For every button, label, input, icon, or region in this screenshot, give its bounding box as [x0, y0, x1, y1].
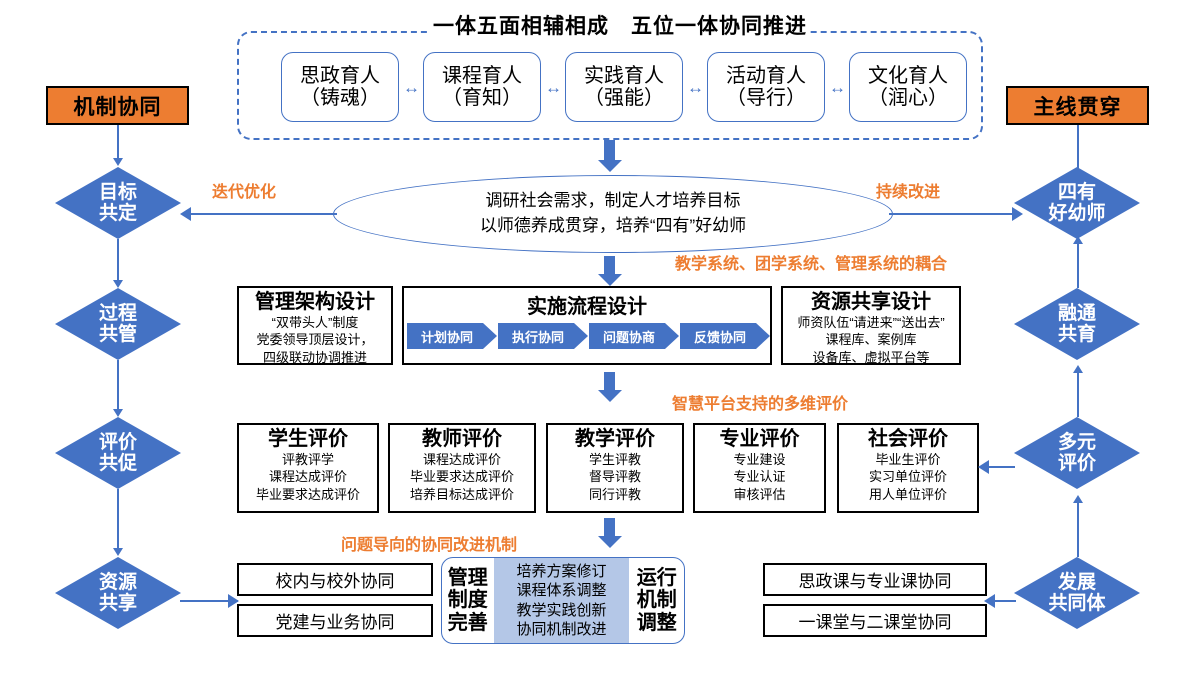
caption-platform: 智慧平台支持的多维评价: [672, 390, 848, 414]
diamond-label: 四有 好幼师: [1048, 182, 1105, 225]
pillar-wenhua[interactable]: 文化育人 （润心）: [849, 52, 967, 122]
diamond-line2: 评价: [1058, 453, 1096, 474]
goal-to-design-arrowhead: [598, 274, 622, 286]
diamond-line1: 过程: [99, 303, 137, 324]
left-arrow-1: [113, 158, 123, 166]
card-title: 专业评价: [720, 428, 800, 451]
action-line: 协同机制改进: [517, 621, 607, 638]
caption-coupling: 教学系统、团学系统、管理系统的耦合: [675, 250, 947, 274]
pillar-line2: （育知）: [442, 87, 522, 109]
iterate-line: [190, 213, 337, 215]
diamond-integration-coeducate[interactable]: 融通 共育: [1014, 288, 1140, 360]
goal-ellipse: 调研社会需求，制定人才培养目标 以师德养成贯穿，培养“四有”好幼师: [333, 175, 893, 253]
diagram-canvas: 一体五面相辅相成 五位一体协同推进 思政育人 （铸魂） ↔ 课程育人 （育知） …: [0, 0, 1202, 676]
card-body-line: 评教评学: [256, 451, 360, 468]
diamond-line2: 共育: [1058, 324, 1096, 345]
right-arrow-2: [1073, 365, 1083, 373]
process-step-problem[interactable]: 问题协商: [589, 323, 679, 349]
pillar-link-icon-1: ↔: [400, 78, 423, 98]
card-body: 师资队伍“请进来”“送出去” 课程库、案例库 设备库、虚拟平台等: [797, 314, 944, 366]
bottom-right-box-class1-class2[interactable]: 一课堂与二课堂协同: [763, 604, 987, 637]
card-teacher-evaluation[interactable]: 教师评价 课程达成评价 毕业要求达成评价 培养目标达成评价: [388, 423, 536, 513]
right-spine-seg-3: [1077, 372, 1079, 417]
left-spine-seg-2: [117, 239, 119, 283]
card-resource-sharing[interactable]: 资源共享设计 师资队伍“请进来”“送出去” 课程库、案例库 设备库、虚拟平台等: [781, 286, 961, 365]
pillar-line1: 课程育人: [442, 65, 522, 87]
label-line: 完善: [448, 612, 488, 634]
improve-arrowhead: [1012, 207, 1023, 221]
card-body-line: 课程库、案例库: [797, 331, 944, 348]
diamond-line2: 共享: [99, 593, 137, 614]
card-body-line: 专业建设: [733, 451, 785, 468]
pillar-label: 实践育人 （强能）: [584, 65, 664, 109]
goal-line1: 调研社会需求，制定人才培养目标: [485, 191, 740, 210]
diamond-line2: 共促: [99, 453, 137, 474]
bottom-center-right-label: 运行 机制 调整: [629, 558, 684, 643]
diamond-line1: 四有: [1058, 182, 1096, 203]
pillar-label: 课程育人 （育知）: [442, 65, 522, 109]
right-spine-seg-1: [1077, 125, 1079, 169]
process-step-feedback[interactable]: 反馈协同: [680, 323, 770, 349]
card-major-evaluation[interactable]: 专业评价 专业建设 专业认证 审核评估: [693, 423, 826, 513]
card-management-architecture[interactable]: 管理架构设计 “双带头人”制度 党委领导顶层设计， 四级联动协调推进: [237, 286, 393, 365]
pillar-huodong[interactable]: 活动育人 （导行）: [707, 52, 825, 122]
diamond-line2: 共定: [99, 203, 137, 224]
social-eval-arrowhead: [978, 460, 989, 474]
diamond-line2: 共同体: [1048, 593, 1105, 614]
bottomright-to-community-arrowhead: [984, 594, 995, 608]
action-line: 课程体系调整: [517, 582, 607, 599]
goal-to-design-stem: [604, 256, 615, 276]
card-body-line: 审核评估: [733, 486, 785, 503]
card-title: 管理架构设计: [255, 291, 375, 314]
right-spine-seg-2: [1077, 243, 1079, 288]
diamond-goal-codetermine[interactable]: 目标 共定: [55, 167, 181, 239]
pillar-line1: 思政育人: [300, 65, 380, 87]
pillars-to-goal-arrowhead: [598, 160, 622, 172]
card-body-line: 培养目标达成评价: [410, 486, 514, 503]
top-section-title: 一体五面相辅相成 五位一体协同推进: [430, 14, 810, 40]
diamond-label: 发展 共同体: [1048, 572, 1105, 615]
pillar-line1: 文化育人: [868, 65, 948, 87]
bottom-left-box-party-business[interactable]: 党建与业务协同: [237, 604, 433, 637]
left-arrow-2: [113, 280, 123, 288]
improve-line: [889, 213, 1019, 215]
card-title: 资源共享设计: [811, 291, 931, 314]
diamond-label: 评价 共促: [99, 432, 137, 475]
pillar-line2: （铸魂）: [300, 87, 380, 109]
pillar-label: 文化育人 （润心）: [868, 65, 948, 109]
pillar-line2: （强能）: [584, 87, 664, 109]
caption-iterate: 迭代优化: [212, 178, 276, 202]
bottom-center-left-label: 管理 制度 完善: [442, 558, 494, 643]
diamond-line1: 发展: [1058, 572, 1096, 593]
card-body-line: 用人单位评价: [869, 486, 947, 503]
right-arrow-3: [1073, 495, 1083, 503]
diamond-four-good-teacher[interactable]: 四有 好幼师: [1014, 167, 1140, 239]
card-title: 教学评价: [575, 428, 655, 451]
pillar-line1: 活动育人: [726, 65, 806, 87]
left-spine-seg-3: [117, 360, 119, 412]
diamond-label: 多元 评价: [1058, 432, 1096, 475]
diamond-line2: 共管: [99, 324, 137, 345]
pillar-label: 活动育人 （导行）: [726, 65, 806, 109]
card-title: 实施流程设计: [404, 290, 770, 319]
pillar-line2: （润心）: [868, 87, 948, 109]
diamond-label: 融通 共育: [1058, 303, 1096, 346]
action-line: 培养方案修订: [517, 563, 607, 580]
diamond-label: 过程 共管: [99, 303, 137, 346]
pillar-link-icon-3: ↔: [684, 78, 707, 98]
card-body: 学生评教 督导评教 同行评教: [589, 451, 641, 503]
eval-to-bottom-stem: [604, 518, 615, 538]
card-body-line: 设备库、虚拟平台等: [797, 349, 944, 366]
card-social-evaluation[interactable]: 社会评价 毕业生评价 实习单位评价 用人单位评价: [837, 423, 979, 513]
pillar-link-icon-4: ↔: [826, 78, 849, 98]
card-body-line: 毕业要求达成评价: [410, 468, 514, 485]
left-arrow-4: [113, 548, 123, 556]
diamond-process-comanage[interactable]: 过程 共管: [55, 288, 181, 360]
goal-ellipse-text: 调研社会需求，制定人才培养目标 以师德养成贯穿，培养“四有”好幼师: [480, 189, 746, 238]
bottom-center-left-label-text: 管理 制度 完善: [448, 567, 488, 634]
goal-line2: 以师德养成贯穿，培养“四有”好幼师: [480, 216, 746, 235]
card-body-line: 课程达成评价: [410, 451, 514, 468]
card-body: 课程达成评价 毕业要求达成评价 培养目标达成评价: [410, 451, 514, 503]
card-body: 评教评学 课程达成评价 毕业要求达成评价: [256, 451, 360, 503]
bottom-center-actions: 培养方案修订 课程体系调整 教学实践创新 协同机制改进: [494, 558, 630, 643]
diamond-line1: 目标: [99, 182, 137, 203]
diamond-line1: 资源: [99, 572, 137, 593]
diamond-evaluation-copromote[interactable]: 评价 共促: [55, 417, 181, 489]
label-line: 管理: [448, 567, 488, 589]
process-step-execute[interactable]: 执行协同: [498, 323, 588, 349]
diamond-line1: 多元: [1058, 432, 1096, 453]
banner-left-mechanism: 机制协同: [46, 86, 189, 125]
pillar-line2: （导行）: [726, 87, 806, 109]
bottom-right-box-ideology-major[interactable]: 思政课与专业课协同: [763, 563, 987, 596]
pillar-link-icon-2: ↔: [542, 78, 565, 98]
card-title: 教师评价: [422, 428, 502, 451]
card-body-line: 实习单位评价: [869, 468, 947, 485]
card-body-line: 毕业要求达成评价: [256, 486, 360, 503]
card-body-line: 四级联动协调推进: [256, 349, 373, 366]
card-body-line: 同行评教: [589, 486, 641, 503]
card-body: “双带头人”制度 党委领导顶层设计， 四级联动协调推进: [256, 314, 373, 366]
card-body-line: 专业认证: [733, 468, 785, 485]
diamond-line1: 评价: [99, 432, 137, 453]
banner-right-mainline: 主线贯穿: [1006, 86, 1149, 125]
card-student-evaluation[interactable]: 学生评价 评教评学 课程达成评价 毕业要求达成评价: [237, 423, 379, 513]
card-title: 学生评价: [268, 428, 348, 451]
action-line: 教学实践创新: [517, 602, 607, 619]
pillars-to-goal-stem: [604, 140, 615, 162]
card-body-line: 学生评教: [589, 451, 641, 468]
caption-problem-driven: 问题导向的协同改进机制: [341, 531, 517, 555]
card-body: 毕业生评价 实习单位评价 用人单位评价: [869, 451, 947, 503]
label-line: 制度: [448, 589, 488, 611]
label-line: 运行: [637, 567, 677, 589]
design-to-eval-arrowhead: [598, 390, 622, 402]
diamond-resource-share[interactable]: 资源 共享: [55, 557, 181, 629]
label-line: 机制: [637, 589, 677, 611]
left-spine-seg-1: [117, 125, 119, 161]
pillar-label: 思政育人 （铸魂）: [300, 65, 380, 109]
card-body-line: 毕业生评价: [869, 451, 947, 468]
bottom-center-actions-text: 培养方案修订 课程体系调整 教学实践创新 协同机制改进: [517, 562, 607, 640]
iterate-arrowhead: [180, 207, 191, 221]
card-body-line: 督导评教: [589, 468, 641, 485]
card-body-line: 课程达成评价: [256, 468, 360, 485]
card-body-line: “双带头人”制度: [256, 314, 373, 331]
card-body-line: 师资队伍“请进来”“送出去”: [797, 314, 944, 331]
bottom-center-right-label-text: 运行 机制 调整: [637, 567, 677, 634]
right-arrow-1: [1073, 236, 1083, 244]
right-spine-seg-4: [1077, 502, 1079, 557]
diamond-development-community[interactable]: 发展 共同体: [1014, 557, 1140, 629]
left-spine-seg-4: [117, 489, 119, 551]
diamond-line2: 好幼师: [1048, 203, 1105, 224]
card-body-line: 党委领导顶层设计，: [256, 331, 373, 348]
bottom-center-composite: 管理 制度 完善 培养方案修订 课程体系调整 教学实践创新 协同机制改进 运行 …: [441, 557, 685, 644]
pillar-sizheng[interactable]: 思政育人 （铸魂）: [281, 52, 399, 122]
pillar-kecheng[interactable]: 课程育人 （育知）: [423, 52, 541, 122]
design-to-eval-stem: [604, 372, 615, 392]
diamond-label: 目标 共定: [99, 182, 137, 225]
diamond-label: 资源 共享: [99, 572, 137, 615]
card-body: 专业建设 专业认证 审核评估: [733, 451, 785, 503]
card-title: 社会评价: [868, 428, 948, 451]
left-arrow-3: [113, 409, 123, 417]
label-line: 调整: [637, 612, 677, 634]
process-step-plan[interactable]: 计划协同: [407, 323, 497, 349]
eval-to-bottom-arrowhead: [598, 536, 622, 548]
bottom-left-box-internal-external[interactable]: 校内与校外协同: [237, 563, 433, 596]
diamond-multi-evaluation[interactable]: 多元 评价: [1014, 417, 1140, 489]
caption-improve: 持续改进: [876, 178, 940, 202]
pillar-shijian[interactable]: 实践育人 （强能）: [565, 52, 683, 122]
pillar-line1: 实践育人: [584, 65, 664, 87]
resource-to-bottomleft-arrowhead: [228, 594, 239, 608]
card-teaching-evaluation[interactable]: 教学评价 学生评教 督导评教 同行评教: [546, 423, 684, 513]
diamond-line1: 融通: [1058, 303, 1096, 324]
